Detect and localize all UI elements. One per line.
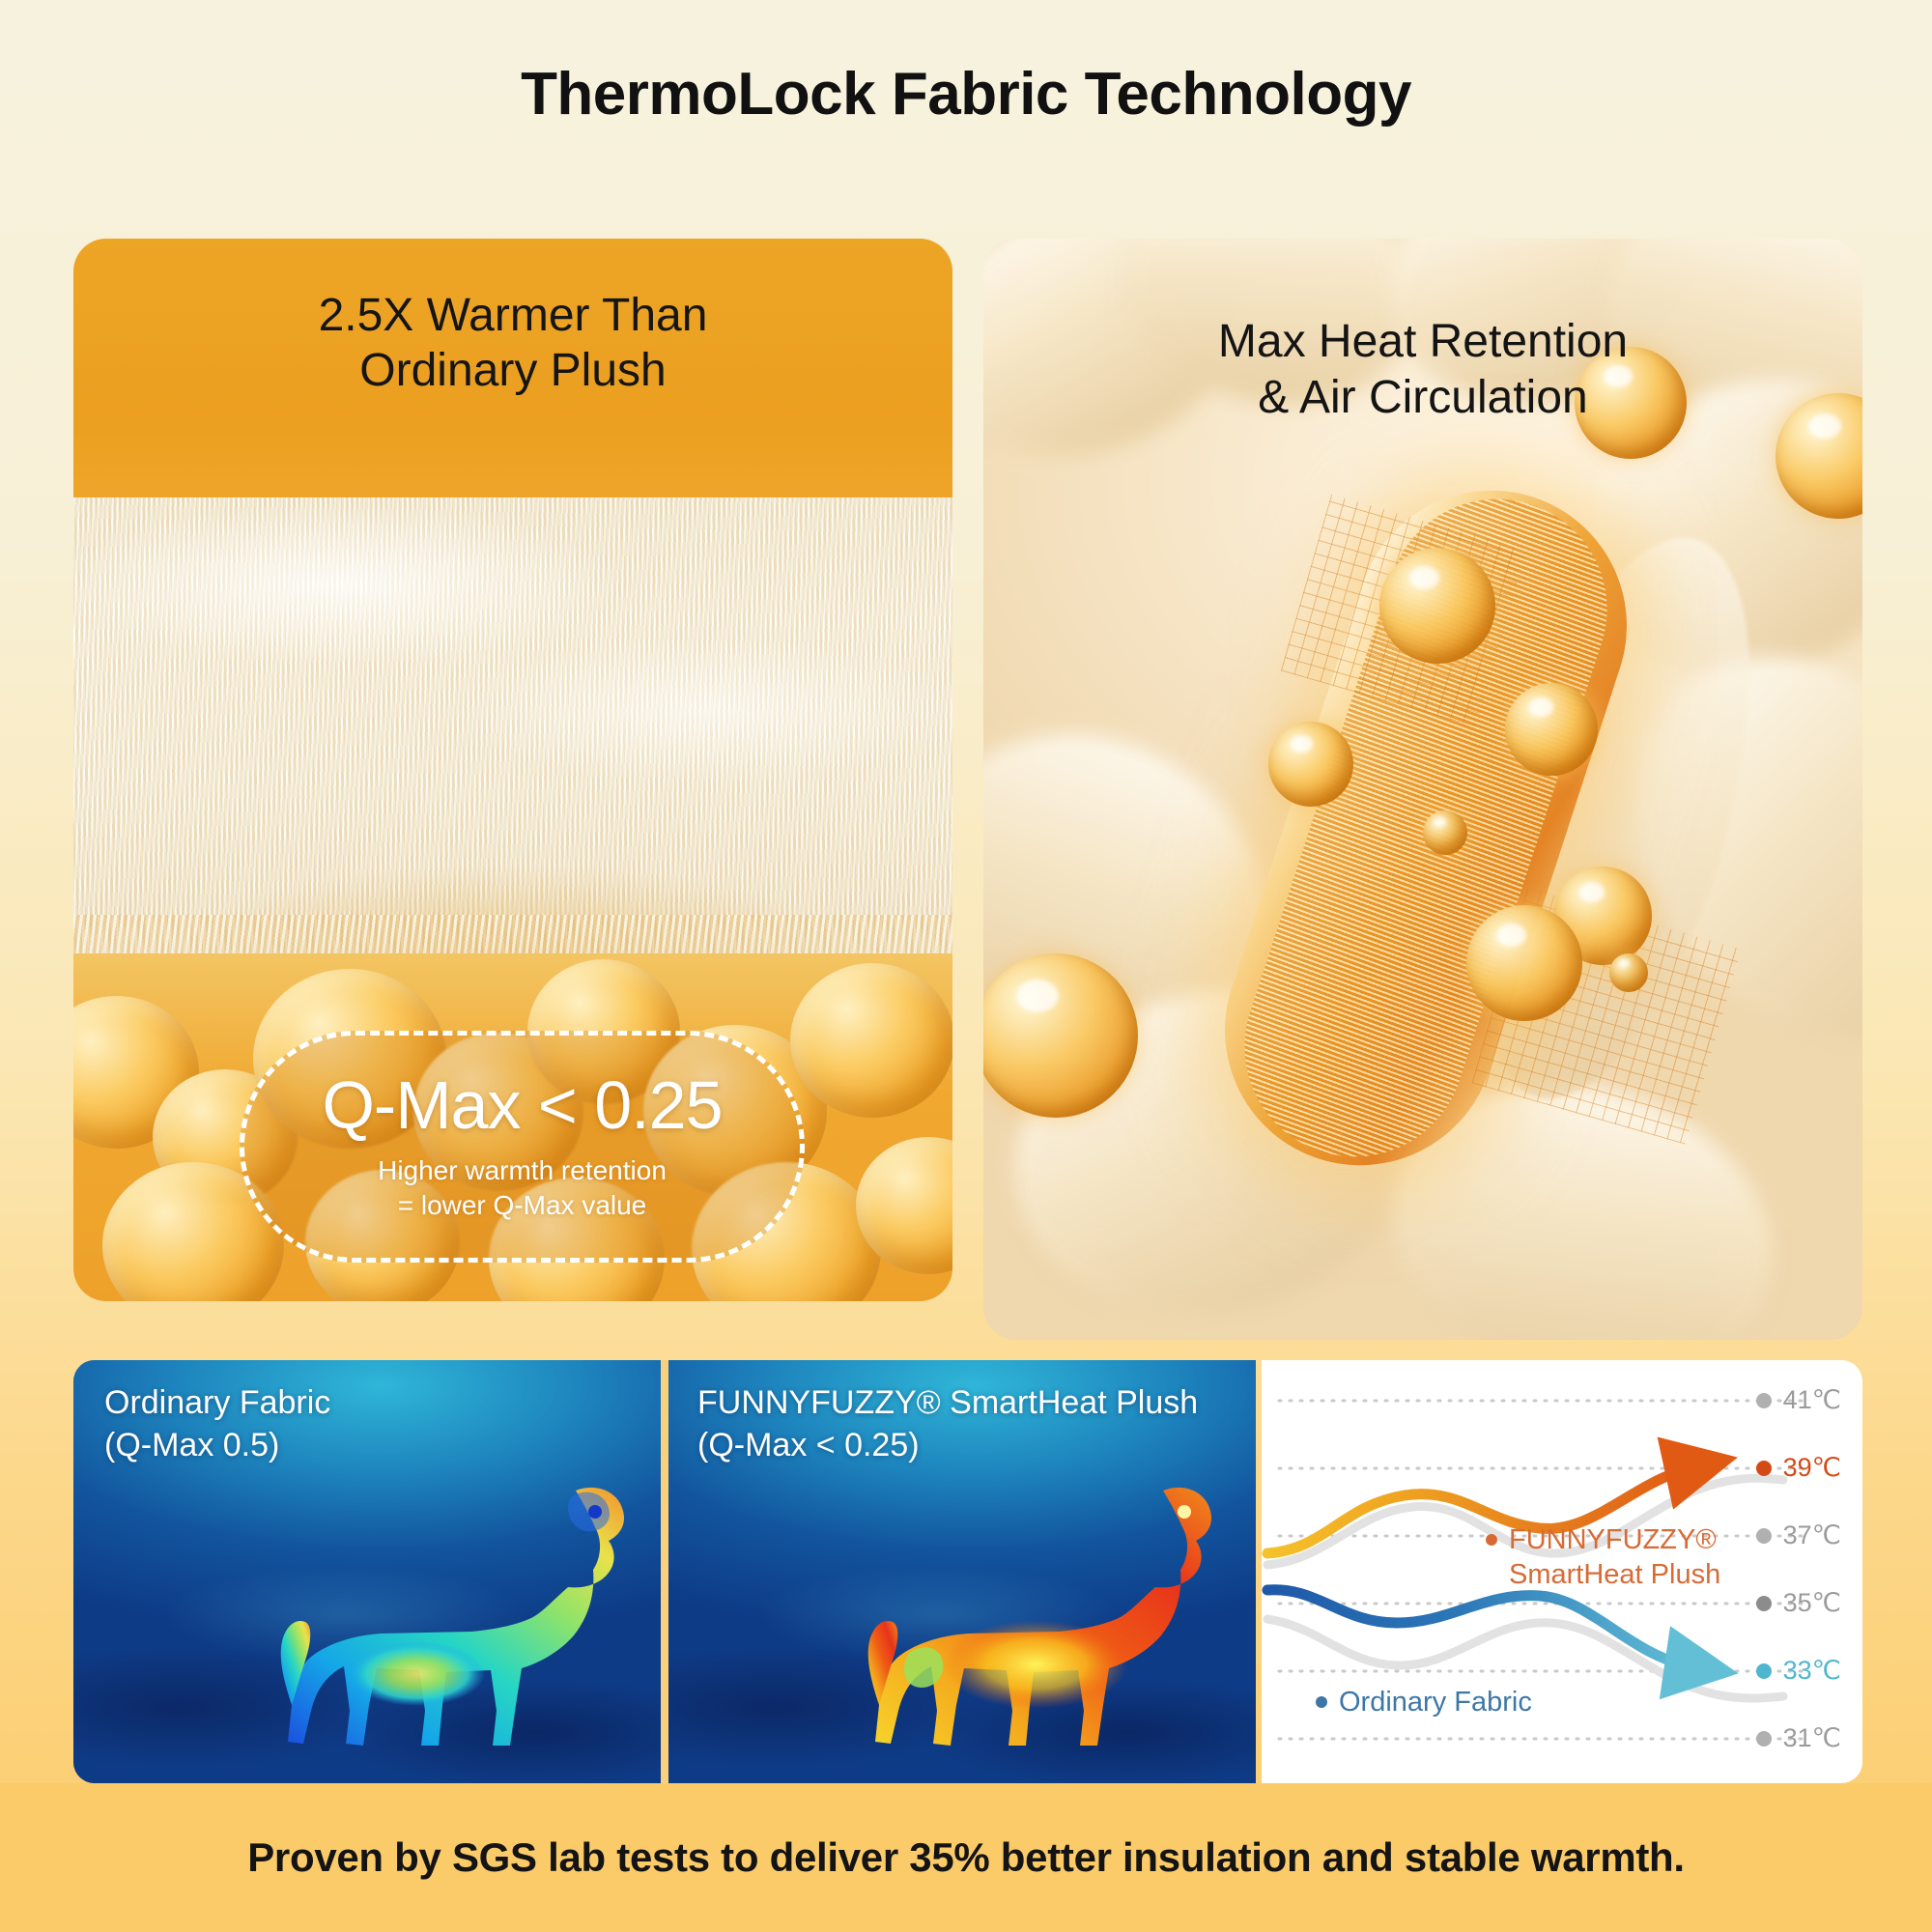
fiber-heading-line2: & Air Circulation	[983, 370, 1862, 426]
heat-droplet	[1423, 810, 1467, 855]
qmax-sub-line2: = lower Q-Max value	[378, 1188, 667, 1223]
chart-endpoint-41	[1756, 1393, 1772, 1408]
thermal-panel-smartheat: FUNNYFUZZY® SmartHeat Plush (Q-Max < 0.2…	[667, 1360, 1256, 1783]
qmax-value: Q-Max < 0.25	[322, 1070, 722, 1142]
heat-droplet	[1379, 548, 1495, 664]
fiber-heading-line1: Max Heat Retention	[983, 314, 1862, 370]
axis-tick-33: 33℃	[1783, 1656, 1841, 1686]
chart-endpoint-31	[1756, 1731, 1772, 1747]
chart-endpoint-37	[1756, 1528, 1772, 1544]
heat-droplet	[1466, 905, 1582, 1021]
axis-tick-35: 35℃	[1783, 1588, 1841, 1618]
plush-texture	[73, 497, 952, 980]
warmth-heading: 2.5X Warmer Than Ordinary Plush	[73, 289, 952, 398]
axis-tick-41: 41℃	[1783, 1385, 1841, 1415]
caption-text: Proven by SGS lab tests to deliver 35% b…	[247, 1834, 1685, 1881]
thermal-panel-ordinary: Ordinary Fabric (Q-Max 0.5)	[73, 1360, 663, 1783]
panel-divider	[661, 1360, 668, 1783]
axis-tick-37: 37℃	[1783, 1520, 1841, 1550]
thermal-smartheat-line1: FUNNYFUZZY® SmartHeat Plush	[697, 1381, 1198, 1424]
fiber-heading: Max Heat Retention & Air Circulation	[983, 314, 1862, 425]
thermal-dog-cool-image	[236, 1452, 641, 1776]
thermal-label-smartheat: FUNNYFUZZY® SmartHeat Plush (Q-Max < 0.2…	[697, 1381, 1198, 1466]
qmax-subtext: Higher warmth retention = lower Q-Max va…	[378, 1153, 667, 1223]
chart-endpoint-ordinary	[1756, 1663, 1772, 1679]
temperature-chart: 41℃ 39℃ 37℃ 35℃ 33℃ 31℃ FUNNYFUZZY® Smar…	[1262, 1360, 1862, 1783]
heat-droplet	[1268, 722, 1353, 807]
warmth-heading-line1: 2.5X Warmer Than	[73, 289, 952, 344]
qmax-badge: Q-Max < 0.25 Higher warmth retention = l…	[240, 1031, 805, 1263]
heat-droplet	[1609, 953, 1648, 992]
legend-dot-icon	[1316, 1696, 1327, 1708]
thermal-smartheat-line2: (Q-Max < 0.25)	[697, 1424, 1198, 1466]
caption-band: Proven by SGS lab tests to deliver 35% b…	[0, 1783, 1932, 1932]
thermal-ordinary-line2: (Q-Max 0.5)	[104, 1424, 330, 1466]
legend-dot-icon	[1486, 1534, 1497, 1546]
thermal-label-ordinary: Ordinary Fabric (Q-Max 0.5)	[104, 1381, 330, 1466]
warmth-heading-line2: Ordinary Plush	[73, 344, 952, 399]
qmax-sub-line1: Higher warmth retention	[378, 1153, 667, 1188]
chart-endpoint-35	[1756, 1596, 1772, 1611]
chart-legend-smartheat: FUNNYFUZZY® SmartHeat Plush	[1486, 1522, 1720, 1593]
page-title: ThermoLock Fabric Technology	[0, 60, 1932, 128]
chart-endpoint-smartheat	[1756, 1461, 1772, 1476]
thermal-dog-warm-image	[823, 1452, 1229, 1776]
chart-legend-ordinary: Ordinary Fabric	[1316, 1687, 1532, 1719]
panel-fiber: Max Heat Retention & Air Circulation	[983, 239, 1862, 1340]
axis-tick-31: 31℃	[1783, 1723, 1841, 1753]
thermal-ordinary-line1: Ordinary Fabric	[104, 1381, 330, 1424]
chart-legend-smartheat-line1: FUNNYFUZZY®	[1486, 1522, 1720, 1557]
heat-droplet	[1505, 683, 1598, 776]
axis-tick-39: 39℃	[1783, 1453, 1841, 1483]
chart-legend-smartheat-line2: SmartHeat Plush	[1486, 1557, 1720, 1592]
